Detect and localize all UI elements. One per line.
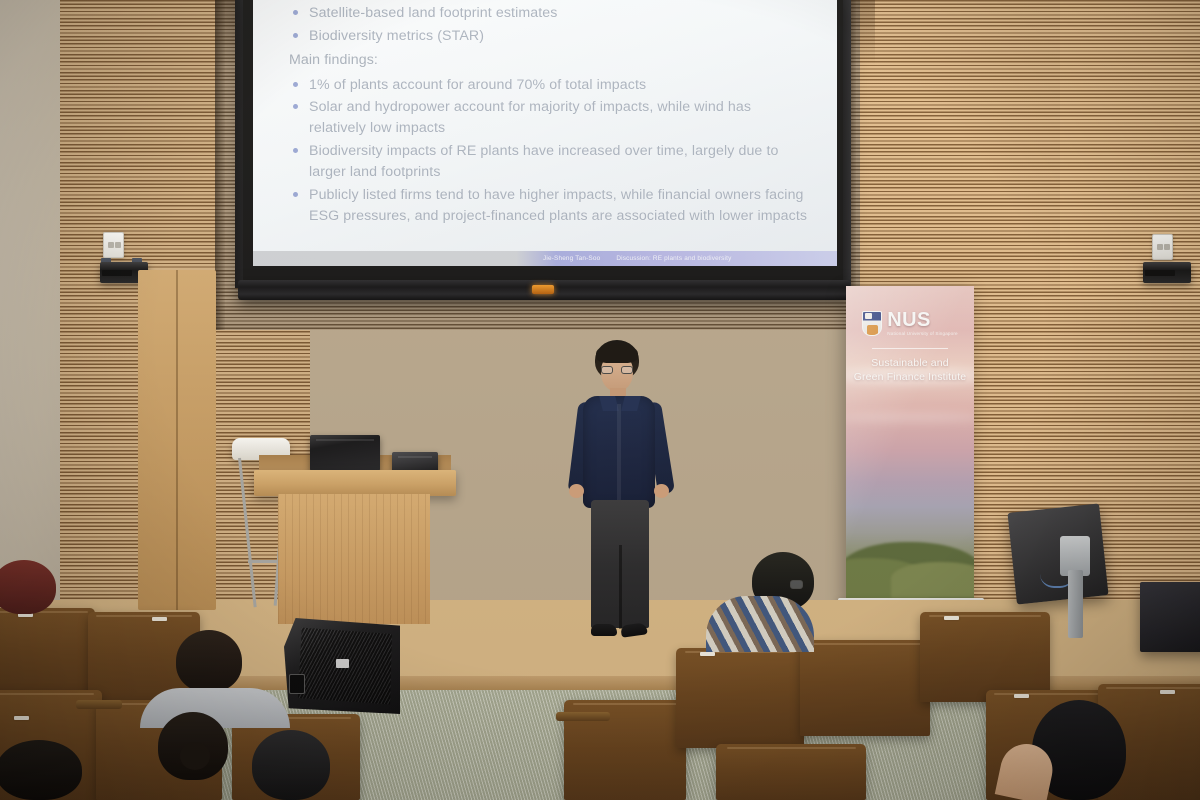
nus-logo-subtitle: National University of Singapore [887,332,957,337]
socket-outlet [108,242,114,248]
lecture-hall-photo: Global renewable energy plant data (40,9… [0,0,1200,800]
seat-number-label [944,616,959,620]
seat-armrest [556,712,610,721]
banner-institute-line-2: Green Finance Institute [852,370,968,384]
wall-seam-left [215,0,225,330]
banner-hill [846,558,929,602]
slide-bullet: Satellite-based land footprint estimates [289,3,811,24]
audience-head-grey-shirt [176,630,242,692]
slide-finding: Biodiversity impacts of RE plants have i… [289,141,811,183]
slide-finding: Publicly listed firms tend to have highe… [289,185,811,227]
glasses-icon [621,366,633,374]
power-socket-left[interactable] [103,232,124,258]
slide-footer-presenter: Jie-Sheng Tan-Soo [543,255,600,262]
lectern-body [278,494,430,624]
banner-divider [872,348,948,349]
banner-cloud [846,412,974,422]
seat-armrest [76,700,122,709]
projection-screen: Global renewable energy plant data (40,9… [243,0,843,304]
nus-crest-icon [862,311,882,336]
lectern-top [254,470,456,496]
slide-bullet: Biodiversity metrics (STAR) [289,26,811,47]
seat-number-label [152,617,167,621]
banner-hill [846,542,974,602]
stage-monitor-speaker [284,618,400,714]
audience-head-red-hair [0,560,56,614]
seat-row-center[interactable] [676,648,804,748]
timber-slat-wall-upper-right [1060,0,1200,300]
wall-speaker-right [1143,262,1191,283]
seat-number-label [14,716,29,720]
presenter-hand-right [654,484,669,498]
slide-footer: Jie-Sheng Tan-Soo Discussion: RE plants … [253,251,837,266]
monitor-arm-post [1068,570,1083,638]
door-seam [176,270,178,610]
socket-outlet [1157,244,1163,250]
screen-status-led [532,285,554,294]
nus-roll-up-banner: NUS National University of Singapore Sus… [846,286,974,602]
laptop-secondary[interactable] [392,452,438,472]
seat-number-label [1160,690,1175,694]
presenter-shoe-left [591,624,617,636]
monitor-secondary [1140,582,1200,652]
nus-logo-text: NUS [887,310,957,330]
banner-hill [891,562,974,598]
socket-outlet [1164,244,1170,250]
audience-hair-bun [180,742,210,770]
seat-row-right[interactable] [920,612,1050,702]
audience-head-foreground-left [252,730,330,800]
nus-wordmark: NUS National University of Singapore [887,310,957,336]
seat-number-label [700,652,715,656]
glasses-icon [790,580,803,589]
slide-section-heading: Main findings: [289,50,811,71]
glasses-icon [601,366,613,374]
presenter-shoe-right [620,622,647,638]
slide-footer-title: Discussion: RE plants and biodiversity [616,255,731,262]
monitor-panel-rear [1007,503,1108,604]
seat-number-label [1014,694,1029,698]
presenter-person [565,340,677,650]
seat-row-right[interactable] [800,640,930,736]
screen-surface: Global renewable energy plant data (40,9… [253,0,837,266]
slide-finding: Solar and hydropower account for majorit… [289,97,811,139]
socket-outlet [115,242,121,248]
presenter-collar [599,396,619,411]
audience-shoulders-batik [706,596,814,652]
banner-cloud [846,368,974,384]
presenter-shirt-placket [617,404,621,504]
power-socket-right[interactable] [1152,234,1173,260]
seat-row-back[interactable] [0,608,95,700]
slide-bullet: Global renewable energy plant data (40,9… [289,0,811,1]
seat-row-right[interactable] [716,744,866,800]
slide-finding: 1% of plants account for around 70% of t… [289,75,811,96]
presenter-hand-left [569,484,584,498]
banner-institute-line-1: Sustainable and [852,356,968,370]
presenter-fringe [596,344,638,363]
presenter-trouser-seam [619,545,622,629]
nus-logo: NUS National University of Singapore [846,310,974,336]
presentation-slide: Global renewable energy plant data (40,9… [253,0,837,266]
banner-institute-name: Sustainable and Green Finance Institute [852,356,968,384]
laptop-primary[interactable] [310,435,380,471]
speaker-handle [289,674,305,694]
speaker-logo [336,659,349,668]
audience-head-foreground-far-left [0,740,82,800]
